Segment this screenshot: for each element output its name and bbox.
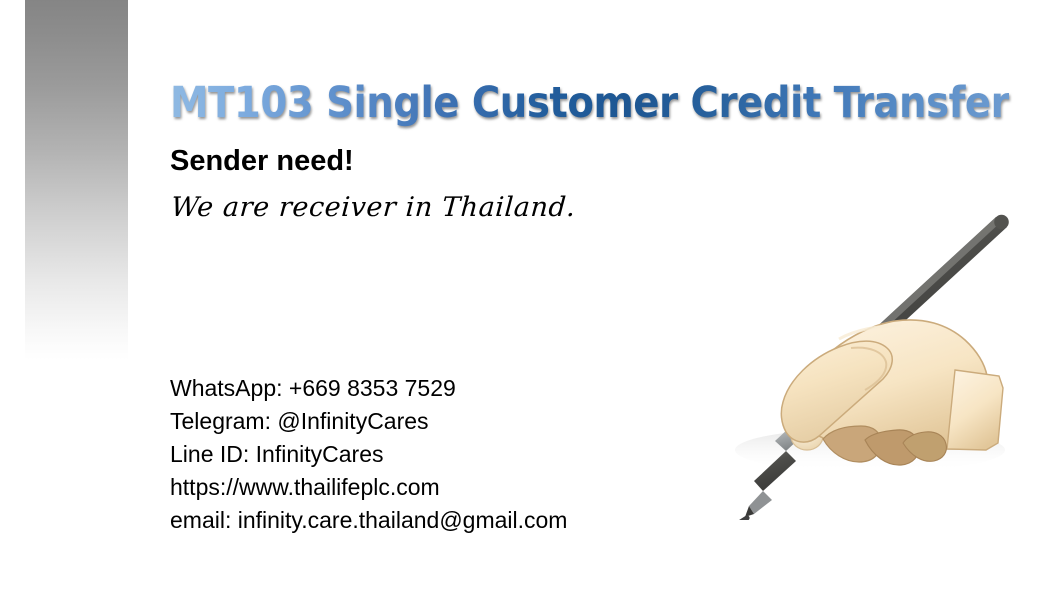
contact-line-website[interactable]: https://www.thailifeplc.com [170, 471, 567, 504]
page-title: MT103 Single Customer Credit Transfer [170, 78, 1009, 128]
hand-writing-with-pen-illustration [655, 200, 1055, 520]
decorative-gradient-bar [25, 0, 128, 360]
headline-text: Sender need! [170, 145, 354, 178]
wrist [947, 370, 1003, 450]
handwriting-squiggle [689, 518, 827, 520]
contact-line-email[interactable]: email: infinity.care.thailand@gmail.com [170, 504, 567, 537]
contact-line-whatsapp: WhatsApp: +669 8353 7529 [170, 372, 567, 405]
slide-canvas: MT103 Single Customer Credit Transfer Se… [0, 0, 1063, 600]
contact-line-lineid: Line ID: InfinityCares [170, 438, 567, 471]
subtitle-text: We are receiver in Thailand. [170, 192, 577, 223]
contact-line-telegram: Telegram: @InfinityCares [170, 405, 567, 438]
contact-info-block: WhatsApp: +669 8353 7529 Telegram: @Infi… [170, 372, 567, 537]
